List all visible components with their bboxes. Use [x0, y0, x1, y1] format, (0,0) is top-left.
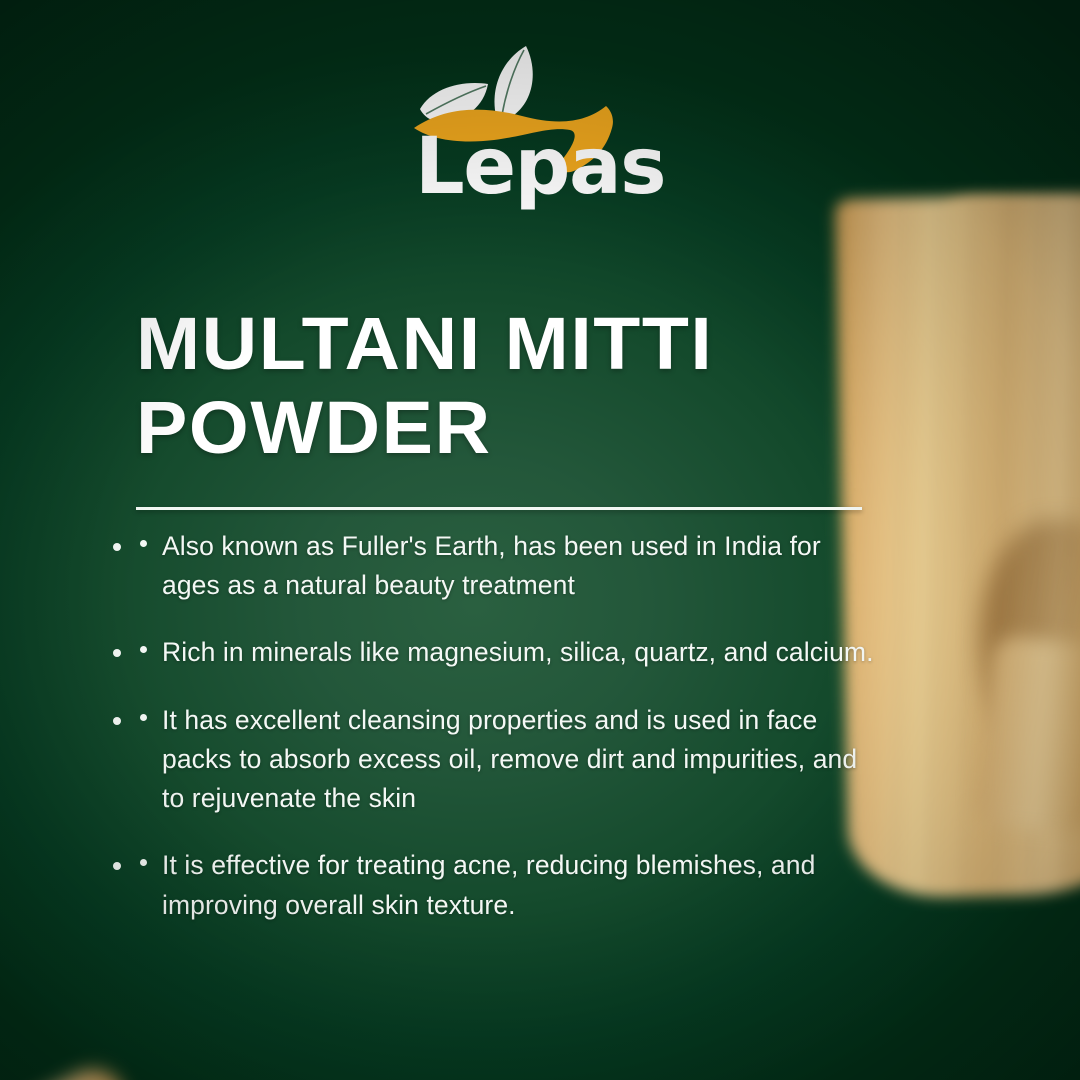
benefits-list: Also known as Fuller's Earth, has been u… [136, 527, 876, 925]
bullet-dot-icon [140, 646, 147, 653]
page-title-line-1: MULTANI MITTI [136, 302, 926, 386]
page-title: MULTANI MITTI POWDER [136, 302, 926, 471]
list-item: It is effective for treating acne, reduc… [136, 846, 876, 924]
brand-logo: Lepas [0, 36, 1080, 186]
list-item-text: It is effective for treating acne, reduc… [162, 850, 815, 919]
list-item: Also known as Fuller's Earth, has been u… [136, 527, 876, 605]
list-item-text: It has excellent cleansing properties an… [162, 705, 857, 813]
bullet-dot-icon [140, 859, 147, 866]
bullet-dot-icon [140, 540, 147, 547]
product-info-poster: Lepas MULTANI MITTI POWDER Also known as… [0, 0, 1080, 1080]
brand-wordmark: Lepas [415, 128, 665, 206]
list-item-text: Rich in minerals like magnesium, silica,… [162, 637, 874, 667]
list-item: It has excellent cleansing properties an… [136, 701, 876, 819]
leaf-right-icon [494, 46, 532, 119]
bullet-dot-icon [140, 714, 147, 721]
logo-mark: Lepas [410, 36, 670, 186]
list-item: Rich in minerals like magnesium, silica,… [136, 633, 876, 672]
divider [136, 507, 862, 510]
poster-content: Lepas MULTANI MITTI POWDER Also known as… [0, 0, 1080, 1080]
page-title-line-2: POWDER [136, 386, 926, 470]
list-item-text: Also known as Fuller's Earth, has been u… [162, 531, 821, 600]
